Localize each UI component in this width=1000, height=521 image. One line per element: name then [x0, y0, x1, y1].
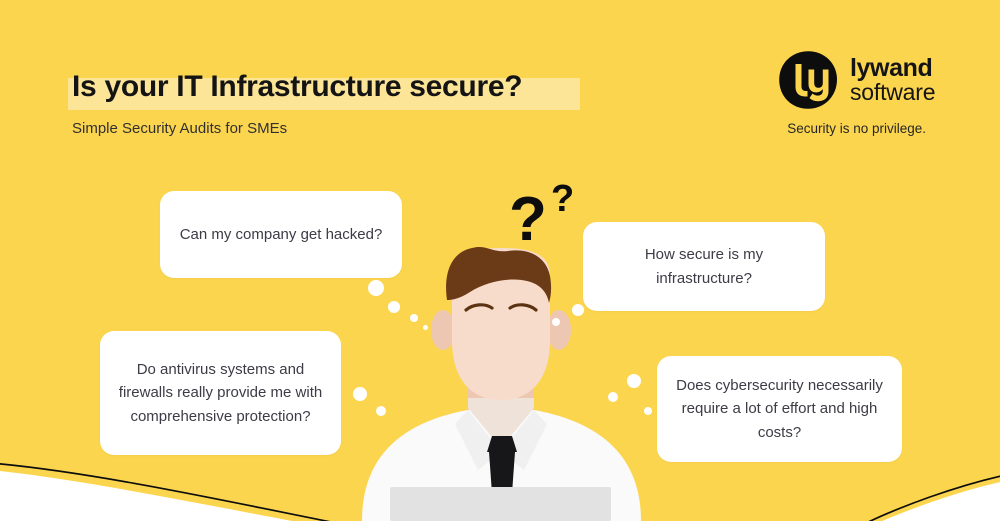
page-title: Is your IT Infrastructure secure?	[72, 70, 522, 104]
thought-dot	[644, 407, 652, 415]
speech-bubble-cybersecurity-effort-costs[interactable]: Does cybersecurity necessarily require a…	[657, 356, 902, 462]
thought-dot	[353, 387, 367, 401]
thought-dot	[376, 406, 386, 416]
thought-dot	[627, 374, 641, 388]
speech-bubble-antivirus-firewalls-protection[interactable]: Do antivirus systems and firewalls reall…	[100, 331, 341, 455]
speech-bubble-how-secure-is-my-infrastructure[interactable]: How secure is my infrastructure?	[583, 222, 825, 311]
thought-dot	[552, 318, 560, 326]
speech-bubble-can-my-company-get-hacked[interactable]: Can my company get hacked?	[160, 191, 402, 278]
banner-canvas: Is your IT Infrastructure secure? Simple…	[0, 0, 1000, 521]
question-mark-small-icon: ?	[551, 180, 574, 218]
thought-dot	[410, 314, 418, 322]
speech-bubble-text: Can my company get hacked?	[180, 223, 383, 246]
ear-left	[431, 310, 455, 350]
thought-dot	[368, 280, 384, 296]
thought-dot	[388, 301, 400, 313]
speech-bubble-text: Does cybersecurity necessarily require a…	[673, 374, 886, 444]
speech-bubble-text: How secure is my infrastructure?	[599, 243, 809, 290]
question-mark-large-icon: ?	[509, 189, 547, 251]
thought-dot	[608, 392, 618, 402]
thought-dot	[572, 304, 584, 316]
page-title-wrapper: Is your IT Infrastructure secure?	[72, 70, 522, 104]
laptop-screen-back	[390, 487, 611, 521]
speech-bubble-text: Do antivirus systems and firewalls reall…	[116, 358, 325, 428]
ear-right	[547, 310, 571, 350]
tie-knot	[487, 436, 517, 452]
thought-dot	[423, 325, 428, 330]
